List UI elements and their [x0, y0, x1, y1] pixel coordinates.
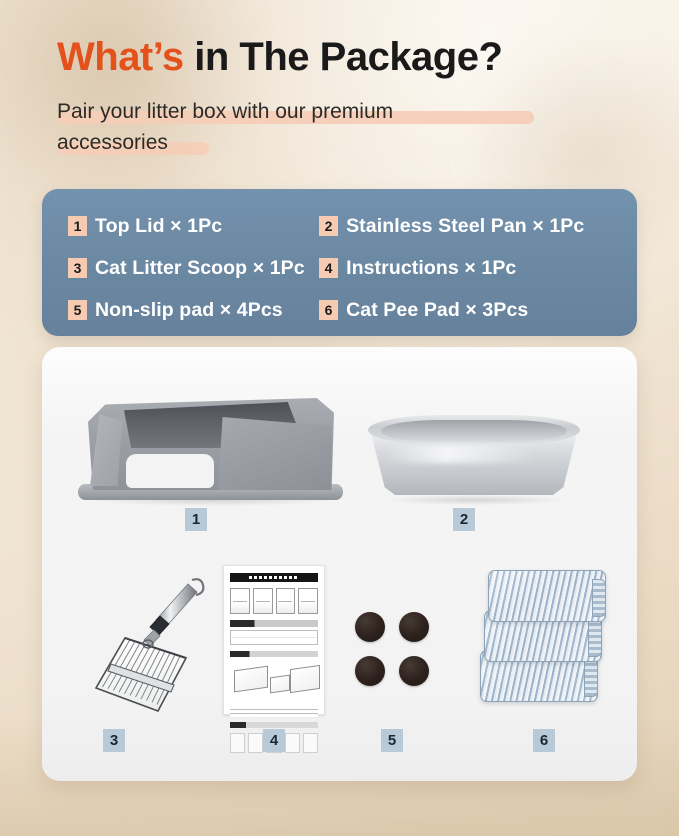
subtitle-text-1: Pair your litter box with our premium [57, 96, 527, 127]
instructions-icon [285, 733, 300, 753]
header: What’s in The Package? Pair your litter … [57, 34, 657, 158]
page-title-accent: What’s [57, 35, 184, 79]
package-item-5: 5 Non-slip pad × 4Pcs [68, 299, 319, 322]
instructions-section-bar [230, 620, 318, 627]
non-slip-pad [355, 656, 385, 686]
pan-shadow [386, 495, 564, 505]
item-number-badge: 6 [319, 300, 338, 320]
item-number-badge: 1 [68, 216, 87, 236]
pee-pad-pack-edge [588, 619, 602, 657]
non-slip-pad [355, 612, 385, 642]
caption-badge-2: 2 [453, 508, 475, 531]
instructions-figure [253, 588, 273, 614]
package-list-row: 5 Non-slip pad × 4Pcs 6 Cat Pee Pad × 3P… [68, 289, 611, 331]
caption-badge-5: 5 [381, 729, 403, 752]
item-label: Stainless Steel Pan × 1Pc [346, 215, 584, 238]
package-list-row: 3 Cat Litter Scoop × 1Pc 4 Instructions … [68, 247, 611, 289]
subtitle-line-2: accessories [57, 127, 527, 158]
pee-pad-pack [488, 570, 606, 622]
instructions-figure [276, 588, 296, 614]
caption-badge-4: 4 [263, 729, 285, 752]
item-label: Instructions × 1Pc [346, 257, 516, 280]
instructions-icon [303, 733, 318, 753]
pee-pad-pack-edge [592, 579, 606, 617]
caption-badge-6: 6 [533, 729, 555, 752]
package-item-6: 6 Cat Pee Pad × 3Pcs [319, 299, 611, 322]
instructions-figure [230, 588, 250, 614]
item-number-badge: 2 [319, 216, 338, 236]
instructions-section-bar [230, 722, 318, 728]
package-item-2: 2 Stainless Steel Pan × 1Pc [319, 215, 611, 238]
product-image-top-lid [78, 392, 343, 500]
litter-scoop-drawing [80, 568, 230, 718]
subtitle: Pair your litter box with our premium ac… [57, 96, 527, 158]
non-slip-pad [399, 656, 429, 686]
item-label: Non-slip pad × 4Pcs [95, 299, 283, 322]
item-label: Cat Pee Pad × 3Pcs [346, 299, 528, 322]
package-item-4: 4 Instructions × 1Pc [319, 257, 611, 280]
product-image-stainless-pan [368, 415, 580, 501]
product-image-instructions-sheet [223, 565, 325, 715]
package-contents-panel: 1 Top Lid × 1Pc 2 Stainless Steel Pan × … [42, 189, 637, 336]
instructions-title-bar [230, 573, 318, 582]
product-image-litter-scoop [80, 568, 230, 718]
item-number-badge: 4 [319, 258, 338, 278]
instructions-assembly-diagram [230, 662, 318, 704]
item-number-badge: 3 [68, 258, 87, 278]
product-image-cat-pee-pads [480, 570, 608, 710]
item-label: Top Lid × 1Pc [95, 215, 222, 238]
assembly-box [290, 665, 320, 693]
pan-inner-cavity [381, 420, 567, 442]
instructions-text-lines [230, 709, 318, 717]
page-title: What’s in The Package? [57, 34, 657, 80]
page-title-rest: in The Package? [184, 35, 503, 79]
top-lid-entry-opening [126, 454, 214, 488]
instructions-icon [230, 733, 245, 753]
non-slip-pad [399, 612, 429, 642]
instructions-spec-table [230, 630, 318, 645]
subtitle-text-2: accessories [57, 127, 527, 158]
package-list-row: 1 Top Lid × 1Pc 2 Stainless Steel Pan × … [68, 205, 611, 247]
item-number-badge: 5 [68, 300, 87, 320]
caption-badge-3: 3 [103, 729, 125, 752]
product-image-non-slip-pads [355, 612, 429, 686]
assembly-box [270, 675, 290, 694]
pee-pad-pack-edge [584, 659, 598, 697]
subtitle-line-1: Pair your litter box with our premium [57, 96, 527, 127]
package-item-3: 3 Cat Litter Scoop × 1Pc [68, 257, 319, 280]
caption-badge-1: 1 [185, 508, 207, 531]
assembly-box [234, 666, 268, 693]
top-lid-front-panel [218, 414, 332, 490]
instructions-figure-row [230, 588, 318, 614]
item-label: Cat Litter Scoop × 1Pc [95, 257, 305, 280]
instructions-figure [298, 588, 318, 614]
instructions-icon [248, 733, 263, 753]
package-item-1: 1 Top Lid × 1Pc [68, 215, 319, 238]
pan-gloss-highlight [386, 445, 536, 463]
instructions-section-bar [230, 651, 318, 657]
